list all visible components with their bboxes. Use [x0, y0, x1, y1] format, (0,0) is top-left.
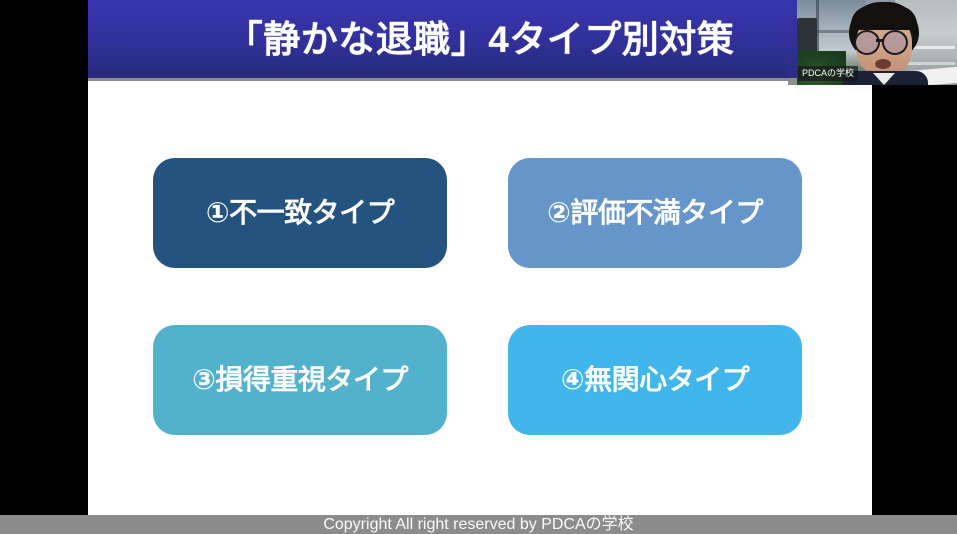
- type-box-3: ③損得重視タイプ: [153, 325, 447, 435]
- presentation-slide: 「静かな退職」4タイプ別対策 ①不一致タイプ ②評価不満タイプ ③損得重視タイプ…: [88, 0, 872, 515]
- video-stage: 「静かな退職」4タイプ別対策 ①不一致タイプ ②評価不満タイプ ③損得重視タイプ…: [0, 0, 957, 534]
- webcam-nameplate: PDCAの学校: [798, 66, 858, 81]
- presenter-mouth: [875, 59, 891, 69]
- eyeglasses-left-lens: [854, 30, 880, 55]
- slide-title: 「静かな退職」4タイプ別対策: [226, 21, 735, 58]
- presenter-fringe: [851, 6, 917, 30]
- type-box-2-label: ②評価不満タイプ: [547, 199, 763, 227]
- slide-edge-sliver: [788, 0, 797, 78]
- type-box-4: ④無関心タイプ: [508, 325, 802, 435]
- slide-edge-sliver-underline: [788, 78, 797, 85]
- webcam-video-overlay[interactable]: PDCAの学校: [788, 0, 957, 85]
- type-box-2: ②評価不満タイプ: [508, 158, 802, 268]
- type-box-grid: ①不一致タイプ ②評価不満タイプ ③損得重視タイプ ④無関心タイプ: [153, 158, 807, 433]
- slide-title-band: 「静かな退職」4タイプ別対策: [88, 0, 872, 78]
- title-underline-rule: [88, 78, 872, 81]
- eyeglasses-bridge: [876, 39, 884, 42]
- type-box-1: ①不一致タイプ: [153, 158, 447, 268]
- type-box-4-label: ④無関心タイプ: [561, 366, 749, 394]
- copyright-footer-bar: Copyright All right reserved by PDCAの学校: [0, 515, 957, 534]
- webcam-participant-name: PDCAの学校: [802, 66, 854, 81]
- copyright-text: Copyright All right reserved by PDCAの学校: [323, 515, 633, 534]
- type-box-1-label: ①不一致タイプ: [206, 199, 394, 227]
- eyeglasses-right-lens: [882, 30, 908, 55]
- background-object: [797, 18, 817, 52]
- type-box-3-label: ③損得重視タイプ: [192, 366, 408, 394]
